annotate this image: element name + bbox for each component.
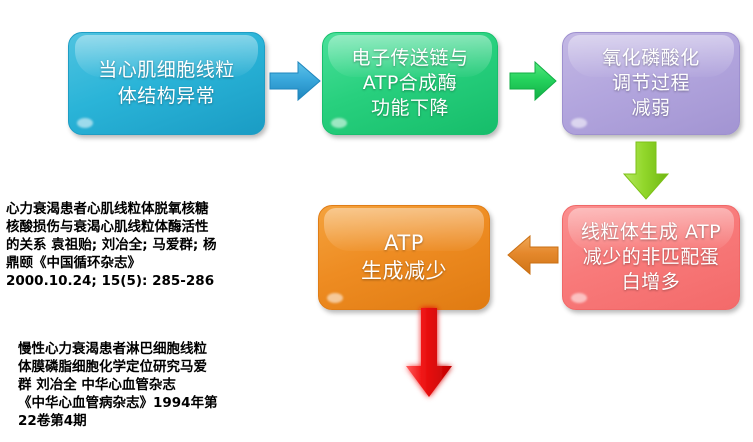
- arrow-red-down: [400, 308, 458, 400]
- arrow-lime-down: [620, 140, 672, 202]
- diagram-canvas: 当心肌细胞线粒 体结构异常 电子传送链与 ATP合成酶 功能下降: [0, 0, 753, 442]
- node-atp-decrease[interactable]: ATP 生成减少: [318, 205, 490, 310]
- arrow-green-right: [508, 58, 558, 104]
- node-uncoupling-protein-label: 线粒体生成 ATP 减少的非匹配蛋 白增多: [575, 220, 727, 295]
- arrow-blue-right: [268, 58, 322, 104]
- node-uncoupling-protein[interactable]: 线粒体生成 ATP 减少的非匹配蛋 白增多: [562, 205, 740, 310]
- node-oxphos-regulation-label: 氧化磷酸化 调节过程 减弱: [596, 46, 706, 121]
- node-etc-atp-synthase-label: 电子传送链与 ATP合成酶 功能下降: [345, 46, 474, 121]
- node-mito-abnormal[interactable]: 当心肌细胞线粒 体结构异常: [68, 32, 265, 135]
- node-mito-abnormal-label: 当心肌细胞线粒 体结构异常: [92, 58, 241, 108]
- reference-citation-1: 心力衰渴患者心肌线粒体脱氧核糖 核酸损伤与衰渴心肌线粒体酶活性 的关系 袁祖贻;…: [6, 201, 250, 291]
- arrow-orange-left: [504, 232, 560, 278]
- node-atp-decrease-label: ATP 生成减少: [355, 230, 453, 285]
- reference-citation-2: 慢性心力衰渴患者淋巴细胞线粒 体膜磷脂细胞化学定位研究马爱 群 刘冶全 中华心血…: [18, 341, 266, 431]
- node-oxphos-regulation[interactable]: 氧化磷酸化 调节过程 减弱: [562, 32, 740, 135]
- node-etc-atp-synthase[interactable]: 电子传送链与 ATP合成酶 功能下降: [322, 32, 498, 135]
